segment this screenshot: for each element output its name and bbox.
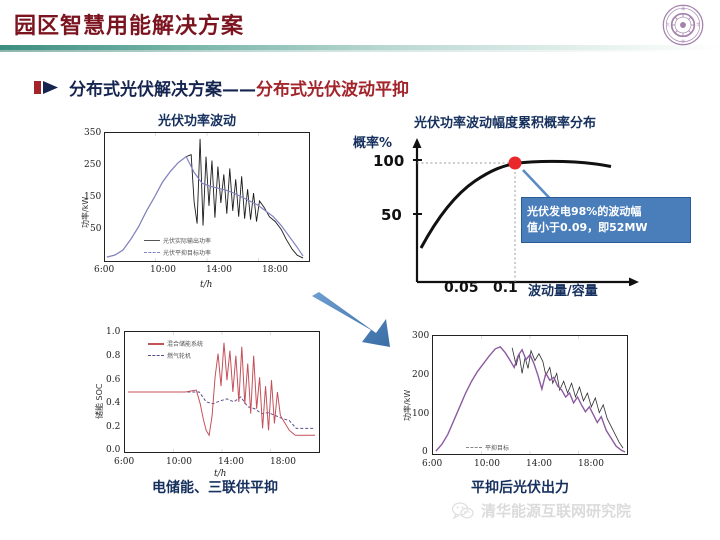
- svg-text:大: 大: [666, 22, 670, 27]
- watermark: 清华能源互联网研究院: [452, 500, 631, 521]
- svg-text:华: 华: [696, 22, 700, 27]
- chart1-ytick: 250: [84, 160, 101, 170]
- legend-swatch-solid: [148, 343, 164, 345]
- chart3-y-axis-label: 储能 SOC: [94, 383, 105, 419]
- chart1-legend: 光伏实际输出功率 光伏平抑目标功率: [144, 236, 211, 257]
- chart-storage-soc: 储能 SOC 1.0 0.8 0.6 0.4 0.2 0.0 混合储能系统 燃气…: [90, 325, 340, 505]
- legend-swatch-dashed: [144, 252, 160, 253]
- legend-label: 混合储能系统: [167, 339, 203, 348]
- chart1-xtick: 10:00: [150, 265, 176, 275]
- chart3-xtick: 6:00: [114, 457, 134, 467]
- legend-item: 光伏平抑目标功率: [144, 248, 211, 257]
- chart4-ytick: 0: [422, 447, 428, 457]
- chart4-caption: 平抑后光伏出力: [400, 477, 640, 497]
- chart3-ytick: 0.2: [106, 422, 120, 432]
- chart2-xtick: 0.05: [444, 280, 479, 296]
- chart3-ytick: 0.6: [106, 375, 120, 385]
- chart1-x-axis-label: t/h: [200, 280, 212, 290]
- chart1-xtick: 6:00: [94, 265, 114, 275]
- watermark-text: 清华能源互联网研究院: [481, 500, 631, 521]
- chart4-xtick: 6:00: [422, 459, 442, 469]
- chart2-y-axis-label: 概率%: [353, 132, 392, 151]
- chart3-caption: 电储能、三联供平抑: [90, 477, 340, 497]
- chart-cumulative-probability: 光伏功率波动幅度累积概率分布 概率% 100 50 光伏发电98%的波动幅 值小…: [345, 112, 685, 312]
- chart2-x-axis-label: 波动量/容量: [528, 280, 598, 299]
- chart4-ytick: 300: [412, 331, 429, 341]
- chart4-ytick: 100: [412, 409, 429, 419]
- chart3-ytick: 0.0: [106, 445, 120, 455]
- legend-item: 混合储能系统: [148, 339, 203, 348]
- chart2-ytick: 50: [381, 206, 402, 224]
- chart4-plot-area: [432, 335, 628, 455]
- chart-title: 光伏功率波动: [72, 110, 322, 129]
- chart4-xtick: 10:00: [474, 459, 500, 469]
- chart3-ytick: 0.4: [106, 398, 120, 408]
- slide-header: 园区智慧用能解决方案 清华 学大: [0, 0, 720, 52]
- chart4-legend: 平抑目标: [466, 443, 509, 452]
- chart1-ytick: 350: [84, 128, 101, 138]
- chart-title: 光伏功率波动幅度累积概率分布: [365, 112, 645, 131]
- section-title: 分布式光伏解决方案——分布式光伏波动平抑: [69, 75, 409, 100]
- chart2-xtick: 0.1: [493, 280, 518, 296]
- legend-item: 平抑目标: [466, 443, 509, 452]
- svg-text:清: 清: [681, 6, 685, 11]
- chart3-legend: 混合储能系统 燃气轮机: [148, 339, 203, 360]
- legend-item: 光伏实际输出功率: [144, 236, 211, 245]
- section-title-part-b: 分布式光伏波动平抑: [256, 80, 409, 100]
- wechat-icon: [452, 502, 474, 520]
- chart3-xtick: 10:00: [166, 457, 192, 467]
- callout-box: 光伏发电98%的波动幅 值小于0.09，即52MW: [521, 197, 691, 243]
- chart1-ytick: 50: [90, 224, 101, 234]
- legend-label: 光伏平抑目标功率: [163, 248, 211, 257]
- tsinghua-university-seal-icon: 清华 学大: [662, 4, 704, 46]
- legend-label: 平抑目标: [485, 443, 509, 452]
- chart1-xtick: 18:00: [262, 265, 288, 275]
- chart2-ytick: 100: [373, 152, 404, 170]
- legend-label: 光伏实际输出功率: [163, 236, 211, 245]
- red-point-marker: [509, 157, 522, 170]
- bullet-marker-icon: [34, 80, 60, 95]
- page-title: 园区智慧用能解决方案: [14, 8, 244, 40]
- legend-item: 燃气轮机: [148, 351, 203, 360]
- callout-line-1: 光伏发电98%的波动幅: [527, 204, 685, 220]
- chart-pv-fluctuation: 光伏功率波动 功率/kW 350 250 150 50 光伏实际输出功率 光伏平…: [72, 110, 322, 300]
- legend-swatch-dashed: [466, 447, 482, 448]
- chart1-ytick: 150: [84, 192, 101, 202]
- section-title-part-a: 分布式光伏解决方案——: [69, 80, 256, 100]
- chart1-xtick: 14:00: [206, 265, 232, 275]
- chart3-ytick: 1.0: [106, 327, 120, 337]
- svg-text:学: 学: [681, 39, 685, 44]
- legend-swatch-dashed: [148, 355, 164, 356]
- chart4-xtick: 14:00: [526, 459, 552, 469]
- chart3-ytick: 0.8: [106, 351, 120, 361]
- chart3-xtick: 18:00: [270, 457, 296, 467]
- chart-pv-after-smoothing: 功率/kW 300 200 100 0 平抑目标 6:00 10:00 14:0…: [400, 325, 640, 505]
- legend-label: 燃气轮机: [167, 351, 191, 360]
- header-divider-thin: [0, 50, 720, 52]
- chart3-xtick: 14:00: [218, 457, 244, 467]
- chart4-ytick: 200: [412, 370, 429, 380]
- section-heading: 分布式光伏解决方案——分布式光伏波动平抑: [34, 75, 409, 99]
- chart4-xtick: 18:00: [578, 459, 604, 469]
- callout-line-2: 值小于0.09，即52MW: [527, 220, 685, 236]
- legend-swatch-solid: [144, 240, 160, 241]
